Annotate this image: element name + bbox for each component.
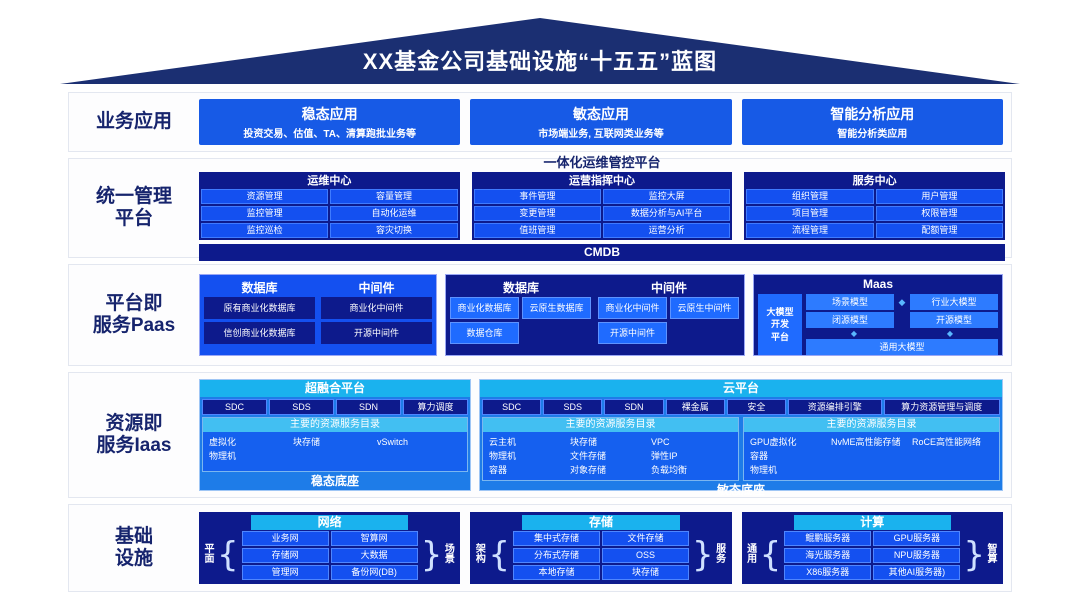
maas-row-source: 闭源模型 开源模型 [806,312,998,328]
infra-card-body: 架构 { 集中式存储 文件存储 分布式存储 OSS 本地存储 块存储 } 服务 [474,530,727,580]
infra-card-title: 存储 [522,515,679,530]
brace-right-icon: } [421,542,443,569]
brace-left-icon: { [217,542,239,569]
infra-item[interactable]: 备份网(DB) [331,565,418,580]
app-card-intelligent-analytics[interactable]: 智能分析应用 智能分析类应用 [742,99,1003,145]
row-body-paas: 数据库 原有商业化数据库 信创商业化数据库 中间件 商业化中间件 开源中间件 [199,265,1011,365]
iaas-catalog: 主要的资源服务目录 虚拟化 块存储 vSwitch 物理机 [202,417,468,472]
infra-item[interactable]: 块存储 [602,565,689,580]
row-paas: 平台即 服务Paas 数据库 原有商业化数据库 信创商业化数据库 中间件 商业化… [68,264,1012,366]
maas-item[interactable]: 行业大模型 [910,294,998,310]
center-item[interactable]: 自动化运维 [330,206,457,221]
infra-left-label: 架构 [474,545,487,566]
iaas-catalog-intelligent: 主要的资源服务目录 GPU虚拟化 NvME高性能存储 RoCE高性能网络 容器 … [743,417,1000,481]
iaas-catalog-item-empty [912,463,993,477]
center-item-grid: 事件管理 监控大屏 变更管理 数据分析与AI平台 值班管理 运营分析 [474,189,731,238]
paas-item-list: 商业化数据库 云原生数据库 数据仓库 [450,297,592,344]
center-title: 服务中心 [746,174,1003,189]
paas-column-database: 数据库 商业化数据库 云原生数据库 数据仓库 [450,279,592,351]
infra-card-network: 网络 平面 { 业务网 智算网 存储网 大数据 管理网 备份网(DB) } 场景 [199,512,460,584]
infra-card-body: 通用 { 鲲鹏服务器 GPU服务器 海光服务器 NPU服务器 X86服务器 其他… [746,530,999,580]
iaas-catalog-items: GPU虚拟化 NvME高性能存储 RoCE高性能网络 容器 物理机 [744,432,999,480]
iaas-catalog-item[interactable]: vSwitch [377,435,461,449]
infra-left-label: 通用 [746,545,759,566]
infra-item[interactable]: 业务网 [242,531,329,546]
iaas-catalog-items: 虚拟化 块存储 vSwitch 物理机 [203,432,467,471]
iaas-capability[interactable]: SDC [202,399,267,415]
center-service[interactable]: 服务中心 组织管理 用户管理 项目管理 权限管理 流程管理 配额管理 [744,172,1005,240]
infra-right-label: 场景 [443,545,456,566]
infra-right-label: 服务 [715,545,728,566]
app-card-subtitle: 市场端业务, 互联网类业务等 [538,125,664,140]
blueprint-diagram: XX基金公司基础设施“十五五”蓝图 业务应用 稳态应用 投资交易、估值、TA、清… [0,0,1080,608]
infra-item[interactable]: 海光服务器 [784,548,871,563]
maas-item[interactable]: 开源模型 [910,312,998,328]
infra-item[interactable]: X86服务器 [784,565,871,580]
maas-row-general: 通用大模型 [806,339,998,355]
brace-right-icon: } [692,542,714,569]
iaas-catalog-general: 主要的资源服务目录 云主机 块存储 VPC 物理机 文件存储 弹性IP 容器 对… [482,417,739,481]
arrow-right-icon: ◆ [897,294,907,310]
maas-item[interactable]: 通用大模型 [806,339,998,355]
center-item[interactable]: 数据分析与AI平台 [603,206,730,221]
center-item[interactable]: 事件管理 [474,189,601,204]
paas-item[interactable]: 信创商业化数据库 [204,322,315,344]
brace-right-icon: } [963,542,985,569]
iaas-catalog-item[interactable]: 负载均衡 [651,463,732,477]
paas-column-middleware: 中间件 商业化中间件 云原生中间件 开源中间件 [598,279,740,351]
center-operations-command[interactable]: 运营指挥中心 事件管理 监控大屏 变更管理 数据分析与AI平台 值班管理 运营分… [472,172,733,240]
arrow-up-icon: ◆ [902,330,998,337]
iaas-catalog-title: 主要的资源服务目录 [483,418,738,432]
row-label-paas: 平台即 服务Paas [69,293,199,338]
brace-left-icon: { [760,542,782,569]
center-item[interactable]: 组织管理 [746,189,873,204]
title-banner: XX基金公司基础设施“十五五”蓝图 [60,18,1020,84]
paas-column-database: 数据库 原有商业化数据库 信创商业化数据库 [204,279,315,351]
iaas-capability[interactable]: 裸金属 [666,399,725,415]
infra-item[interactable]: 文件存储 [602,531,689,546]
iaas-catalog-item[interactable]: 块存储 [570,435,651,449]
infra-item[interactable]: GPU服务器 [873,531,960,546]
infra-item[interactable]: 鲲鹏服务器 [784,531,871,546]
iaas-catalog-item-empty [912,449,993,463]
iaas-capability[interactable]: 安全 [727,399,786,415]
infra-card-header-wrap: 计算 [746,515,999,530]
row-iaas: 资源即 服务Iaas 超融合平台 SDC SDS SDN 算力调度 主要的资源服… [68,372,1012,498]
infra-left-label: 平面 [203,545,216,566]
center-item[interactable]: 流程管理 [746,223,873,238]
paas-item[interactable]: 商业化中间件 [321,297,432,319]
paas-column-middleware: 中间件 商业化中间件 开源中间件 [321,279,432,351]
center-item[interactable]: 监控巡检 [201,223,328,238]
iaas-catalog-item[interactable]: 容器 [750,449,831,463]
paas-column-title: 中间件 [598,279,740,297]
iaas-capability[interactable]: 资源编排引擎 [788,399,882,415]
center-item[interactable]: 用户管理 [876,189,1003,204]
iaas-catalog-item[interactable]: 块存储 [293,435,377,449]
infra-item[interactable]: NPU服务器 [873,548,960,563]
row-body-iaas: 超融合平台 SDC SDS SDN 算力调度 主要的资源服务目录 虚拟化 块存储… [199,373,1011,497]
iaas-catalog-item[interactable]: 文件存储 [570,449,651,463]
infra-item-grid: 集中式存储 文件存储 分布式存储 OSS 本地存储 块存储 [511,531,691,580]
row-label-unified-management: 统一管理 平台 [69,186,199,231]
infra-card-body: 平面 { 业务网 智算网 存储网 大数据 管理网 备份网(DB) } 场景 [203,530,456,580]
maas-arrows-up: ◆ ◆ [806,330,998,337]
maas-row-scene: 场景模型 ◆ 行业大模型 [806,294,998,310]
row-label-infrastructure: 基础 设施 [69,526,199,571]
paas-item-list: 商业化中间件 云原生中间件 开源中间件 [598,297,740,344]
center-item[interactable]: 变更管理 [474,206,601,221]
paas-column-title: 数据库 [204,279,315,297]
iaas-catalog-item[interactable]: 虚拟化 [209,435,293,449]
maas-item[interactable]: 场景模型 [806,294,894,310]
iaas-catalog-title: 主要的资源服务目录 [744,418,999,432]
iaas-catalog-item[interactable]: NvME高性能存储 [831,435,912,449]
iaas-catalog-list: 主要的资源服务目录 云主机 块存储 VPC 物理机 文件存储 弹性IP 容器 对… [480,417,1002,481]
center-item[interactable]: 项目管理 [746,206,873,221]
center-item[interactable]: 运营分析 [603,223,730,238]
cmdb-bar[interactable]: CMDB [199,244,1005,261]
maas-model-stack: 场景模型 ◆ 行业大模型 闭源模型 开源模型 ◆ ◆ [806,294,998,355]
iaas-panel-footer: 敏态底座 [480,481,1002,499]
infra-card-storage: 存储 架构 { 集中式存储 文件存储 分布式存储 OSS 本地存储 块存储 } … [470,512,731,584]
infra-card-header-wrap: 存储 [474,515,727,530]
iaas-catalog-item[interactable]: VPC [651,435,732,449]
iaas-capability[interactable]: SDS [543,399,602,415]
platform-title: 一体化运维管控平台 [199,156,1005,169]
paas-item[interactable]: 原有商业化数据库 [204,297,315,319]
iaas-panel-title: 超融合平台 [200,380,470,397]
brace-left-icon: { [488,542,510,569]
iaas-capability[interactable]: SDS [269,399,334,415]
iaas-catalog-items: 云主机 块存储 VPC 物理机 文件存储 弹性IP 容器 对象存储 负载均衡 [483,432,738,480]
row-label-iaas: 资源即 服务Iaas [69,413,199,458]
iaas-catalog-item[interactable]: GPU虚拟化 [750,435,831,449]
paas-group-traditional: 数据库 原有商业化数据库 信创商业化数据库 中间件 商业化中间件 开源中间件 [199,274,437,356]
app-card-stable[interactable]: 稳态应用 投资交易、估值、TA、清算跑批业务等 [199,99,460,145]
row-business-applications: 业务应用 稳态应用 投资交易、估值、TA、清算跑批业务等 敏态应用 市场端业务,… [68,92,1012,152]
app-card-title: 敏态应用 [573,104,629,124]
center-item[interactable]: 配额管理 [876,223,1003,238]
paas-item[interactable]: 云原生中间件 [670,297,739,319]
paas-item[interactable]: 开源中间件 [321,322,432,344]
infra-item[interactable]: 管理网 [242,565,329,580]
iaas-panel-footer: 稳态底座 [200,472,470,490]
iaas-capability[interactable]: SDN [336,399,401,415]
row-body-infrastructure: 网络 平面 { 业务网 智算网 存储网 大数据 管理网 备份网(DB) } 场景 [199,505,1011,591]
iaas-catalog-item[interactable]: 对象存储 [570,463,651,477]
maas-model-dev-platform[interactable]: 大模型 开发 平台 [758,294,802,355]
iaas-capability[interactable]: SDN [604,399,663,415]
management-centers: 运维中心 资源管理 容量管理 监控管理 自动化运维 监控巡检 容灾切换 运营指挥… [199,172,1005,240]
iaas-catalog-title: 主要的资源服务目录 [203,418,467,432]
maas-item[interactable]: 闭源模型 [806,312,894,328]
paas-column-title: 数据库 [450,279,592,297]
app-card-agile[interactable]: 敏态应用 市场端业务, 互联网类业务等 [470,99,731,145]
infra-item[interactable]: OSS [602,548,689,563]
arrow-up-icon: ◆ [806,330,902,337]
paas-item[interactable]: 云原生数据库 [522,297,591,319]
infra-item-grid: 鲲鹏服务器 GPU服务器 海光服务器 NPU服务器 X86服务器 其他AI服务器… [782,531,962,580]
iaas-catalog-item[interactable]: 弹性IP [651,449,732,463]
center-item[interactable]: 监控大屏 [603,189,730,204]
page-title: XX基金公司基础设施“十五五”蓝图 [60,44,1020,76]
center-item[interactable]: 容灾切换 [330,223,457,238]
row-infrastructure: 基础 设施 网络 平面 { 业务网 智算网 存储网 大数据 管理网 备份网(DB… [68,504,1012,592]
infra-right-label: 智算 [986,545,999,566]
infra-item[interactable]: 其他AI服务器) [873,565,960,580]
app-card-title: 智能分析应用 [830,104,914,124]
center-item[interactable]: 值班管理 [474,223,601,238]
row-label-business-applications: 业务应用 [69,111,199,133]
paas-item[interactable]: 开源中间件 [598,322,667,344]
iaas-panel-hyperconverged: 超融合平台 SDC SDS SDN 算力调度 主要的资源服务目录 虚拟化 块存储… [199,379,471,491]
row-body-business-applications: 稳态应用 投资交易、估值、TA、清算跑批业务等 敏态应用 市场端业务, 互联网类… [199,93,1011,151]
iaas-panel-cloud: 云平台 SDC SDS SDN 裸金属 安全 资源编排引擎 算力资源管理与调度 … [479,379,1003,491]
iaas-catalog-item-empty [831,449,912,463]
iaas-capability-list: SDC SDS SDN 裸金属 安全 资源编排引擎 算力资源管理与调度 [480,397,1002,417]
iaas-capability[interactable]: 算力调度 [403,399,468,415]
center-item[interactable]: 容量管理 [330,189,457,204]
infra-item[interactable]: 本地存储 [513,565,600,580]
iaas-catalog-item[interactable]: 容器 [489,463,570,477]
iaas-catalog-list: 主要的资源服务目录 虚拟化 块存储 vSwitch 物理机 [200,417,470,472]
row-body-unified-management: 一体化运维管控平台 运维中心 资源管理 容量管理 监控管理 自动化运维 监控巡检… [199,159,1011,257]
paas-group-maas: Maas 大模型 开发 平台 场景模型 ◆ 行业大模型 闭源模型 开源模型 [753,274,1003,356]
infra-card-title: 网络 [251,515,408,530]
maas-body: 大模型 开发 平台 场景模型 ◆ 行业大模型 闭源模型 开源模型 [758,294,998,355]
center-item[interactable]: 资源管理 [201,189,328,204]
iaas-capability[interactable]: SDC [482,399,541,415]
infra-card-compute: 计算 通用 { 鲲鹏服务器 GPU服务器 海光服务器 NPU服务器 X86服务器… [742,512,1003,584]
iaas-capability[interactable]: 算力资源管理与调度 [884,399,1000,415]
infra-card-header-wrap: 网络 [203,515,456,530]
paas-column-title: 中间件 [321,279,432,297]
infra-card-title: 计算 [794,515,951,530]
center-item[interactable]: 监控管理 [201,206,328,221]
paas-item-list: 原有商业化数据库 信创商业化数据库 [204,297,315,344]
maas-title: Maas [758,277,998,292]
iaas-panel-title: 云平台 [480,380,1002,397]
infra-item[interactable]: 存储网 [242,548,329,563]
iaas-catalog-item[interactable]: 物理机 [750,463,831,477]
iaas-catalog-item[interactable]: 云主机 [489,435,570,449]
center-item-grid: 组织管理 用户管理 项目管理 权限管理 流程管理 配额管理 [746,189,1003,238]
app-card-subtitle: 投资交易、估值、TA、清算跑批业务等 [243,125,416,140]
infra-item[interactable]: 智算网 [331,531,418,546]
infra-item[interactable]: 集中式存储 [513,531,600,546]
iaas-catalog-item-empty [831,463,912,477]
row-unified-management: 统一管理 平台 一体化运维管控平台 运维中心 资源管理 容量管理 监控管理 自动… [68,158,1012,258]
iaas-catalog-item[interactable]: 物理机 [209,449,293,463]
app-card-subtitle: 智能分析类应用 [837,125,907,140]
iaas-catalog-item[interactable]: RoCE高性能网络 [912,435,993,449]
app-card-title: 稳态应用 [302,104,358,124]
center-title: 运营指挥中心 [474,174,731,189]
infra-item[interactable]: 大数据 [331,548,418,563]
paas-item[interactable]: 商业化中间件 [598,297,667,319]
paas-item-list: 商业化中间件 开源中间件 [321,297,432,344]
center-ops[interactable]: 运维中心 资源管理 容量管理 监控管理 自动化运维 监控巡检 容灾切换 [199,172,460,240]
paas-item[interactable]: 商业化数据库 [450,297,519,319]
paas-group-cloudnative: 数据库 商业化数据库 云原生数据库 数据仓库 中间件 商业化中间件 云原生中间件… [445,274,745,356]
paas-item[interactable]: 数据仓库 [450,322,519,344]
iaas-catalog-item[interactable]: 物理机 [489,449,570,463]
center-title: 运维中心 [201,174,458,189]
center-item-grid: 资源管理 容量管理 监控管理 自动化运维 监控巡检 容灾切换 [201,189,458,238]
infra-item[interactable]: 分布式存储 [513,548,600,563]
iaas-capability-list: SDC SDS SDN 算力调度 [200,397,470,417]
infra-item-grid: 业务网 智算网 存储网 大数据 管理网 备份网(DB) [240,531,420,580]
center-item[interactable]: 权限管理 [876,206,1003,221]
